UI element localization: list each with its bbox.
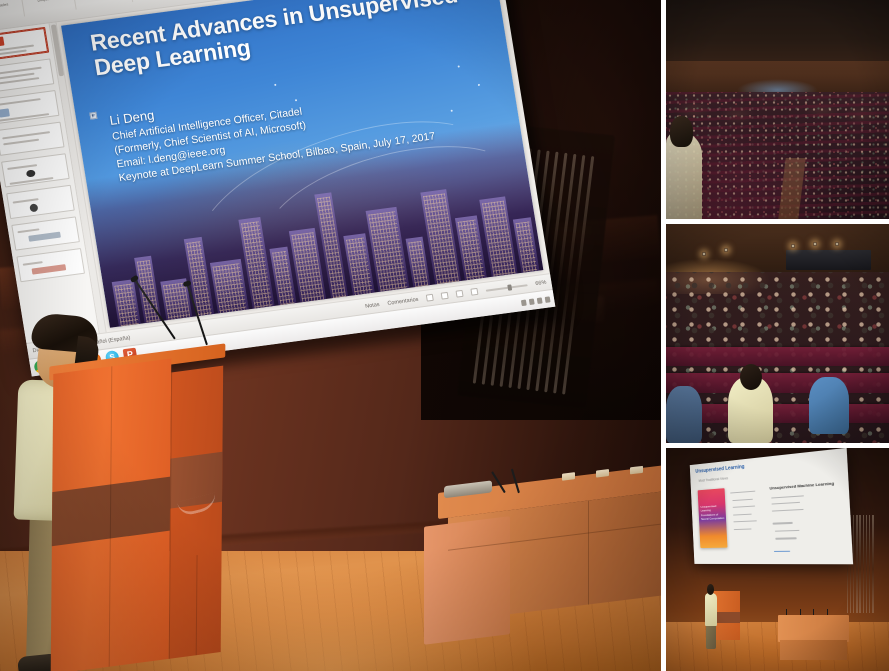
zoom-level: 66% [535, 279, 547, 286]
slide-thumbnail[interactable] [0, 90, 59, 124]
ribbon-separator [70, 0, 77, 10]
slide-thumbnail[interactable] [16, 248, 85, 282]
view-reading-icon[interactable] [456, 290, 464, 298]
projection-screen: Unsupervised Learning Most Traditional V… [690, 448, 853, 564]
panel-table [438, 465, 661, 643]
slide-subtitle: Most Traditional Views [698, 476, 728, 482]
panel-table-top [778, 615, 849, 642]
slide-column-heading: Unsupervised Machine Learning [769, 479, 834, 492]
slide-thumbnail[interactable] [0, 58, 54, 92]
photo-auditorium-wide-audience [666, 0, 889, 219]
slide-thumbnail[interactable] [11, 216, 80, 250]
photo-collage: Recent Advances in Unsupervised Deep Lea… [0, 0, 889, 671]
book-title: Unsupervised Learning Foundations of Neu… [700, 503, 725, 521]
speaker-shirt [705, 593, 717, 626]
slide-thumbnail[interactable] [0, 27, 49, 61]
ribbon-group-label: Portapapeles [0, 2, 9, 10]
photo-audience-closeup [666, 224, 889, 443]
foreground-person-head [670, 116, 692, 147]
slide-right-column: Unsupervised Machine Learning [769, 479, 834, 494]
speaker-legs [706, 624, 716, 649]
view-sorter-icon[interactable] [441, 292, 449, 300]
zoom-slider[interactable] [486, 284, 528, 292]
table-left-side [424, 516, 510, 645]
slide-thumbnail[interactable] [1, 153, 70, 187]
ribbon-group-label: Diapositivas [37, 0, 59, 3]
ribbon-separator [18, 0, 25, 17]
slide-title: Recent Advances in Unsupervised Deep Lea… [89, 0, 487, 79]
book-cover-image: Unsupervised Learning Foundations of Neu… [697, 488, 726, 548]
main-photo-speaker-at-podium: Recent Advances in Unsupervised Deep Lea… [0, 0, 661, 671]
ribbon-separator [126, 0, 133, 2]
slide-thumbnail[interactable] [0, 122, 65, 156]
ribbon-group-diapositivas[interactable]: Diapositivas [26, 0, 67, 4]
slide-bullet-marker-icon [89, 112, 97, 120]
podium [51, 352, 224, 671]
notes-button[interactable]: Notas [365, 301, 380, 309]
view-slideshow-icon[interactable] [470, 288, 478, 296]
ribbon-group-portapapeles[interactable]: Portapapeles [0, 0, 15, 11]
view-normal-icon[interactable] [426, 294, 434, 302]
panel-table-front [780, 640, 847, 660]
audience-member-head [740, 364, 762, 390]
comments-button[interactable]: Comentarios [387, 296, 419, 306]
system-tray[interactable] [521, 296, 551, 306]
audience-member [666, 386, 702, 443]
audience-member [809, 377, 849, 434]
rear-display-screen [786, 250, 871, 270]
photo-stage-wide-with-slide: Unsupervised Learning Most Traditional V… [666, 448, 889, 671]
slide-thumbnail[interactable] [6, 185, 75, 219]
slide-title: Unsupervised Learning [695, 464, 744, 475]
